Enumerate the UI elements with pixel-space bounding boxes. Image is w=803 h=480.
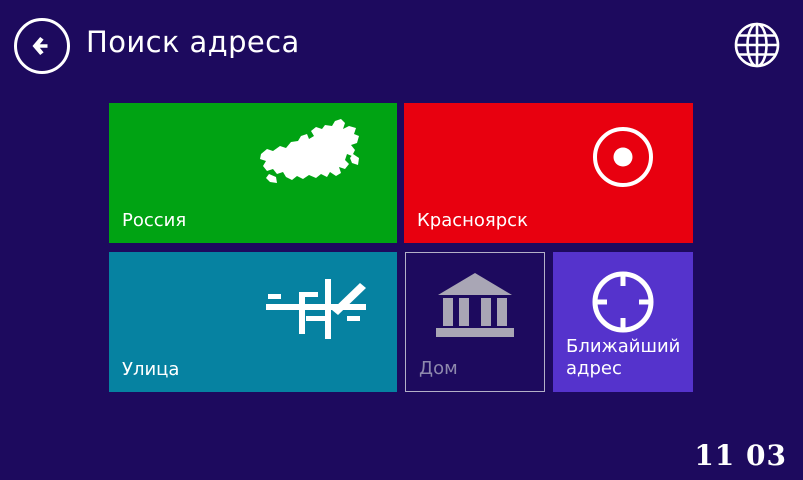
russia-map-icon (253, 114, 371, 206)
globe-button[interactable] (729, 17, 785, 73)
tile-nearest-address[interactable]: Ближайший адрес (553, 252, 693, 392)
tile-house[interactable]: Дом (405, 252, 545, 392)
tile-country[interactable]: Россия (109, 103, 397, 243)
tile-street[interactable]: Улица (109, 252, 397, 392)
globe-icon (729, 17, 785, 73)
tile-house-label: Дом (419, 358, 458, 380)
street-crossing-icon (266, 275, 370, 339)
tile-city-label: Красноярск (417, 210, 528, 232)
tile-street-label: Улица (122, 359, 179, 381)
clock: 11 03 (694, 439, 787, 472)
back-button[interactable] (14, 18, 70, 74)
tile-nearest-address-label: Ближайший адрес (566, 336, 680, 380)
crosshair-icon (589, 268, 657, 336)
header-bar: Поиск адреса (0, 0, 803, 92)
city-marker-icon (588, 122, 658, 192)
back-arrow-icon (25, 29, 59, 63)
building-icon (436, 271, 514, 339)
tile-city[interactable]: Красноярск (404, 103, 693, 243)
page-title: Поиск адреса (86, 25, 300, 59)
tile-country-label: Россия (122, 210, 186, 232)
address-search-screen: Поиск адреса (0, 0, 803, 480)
